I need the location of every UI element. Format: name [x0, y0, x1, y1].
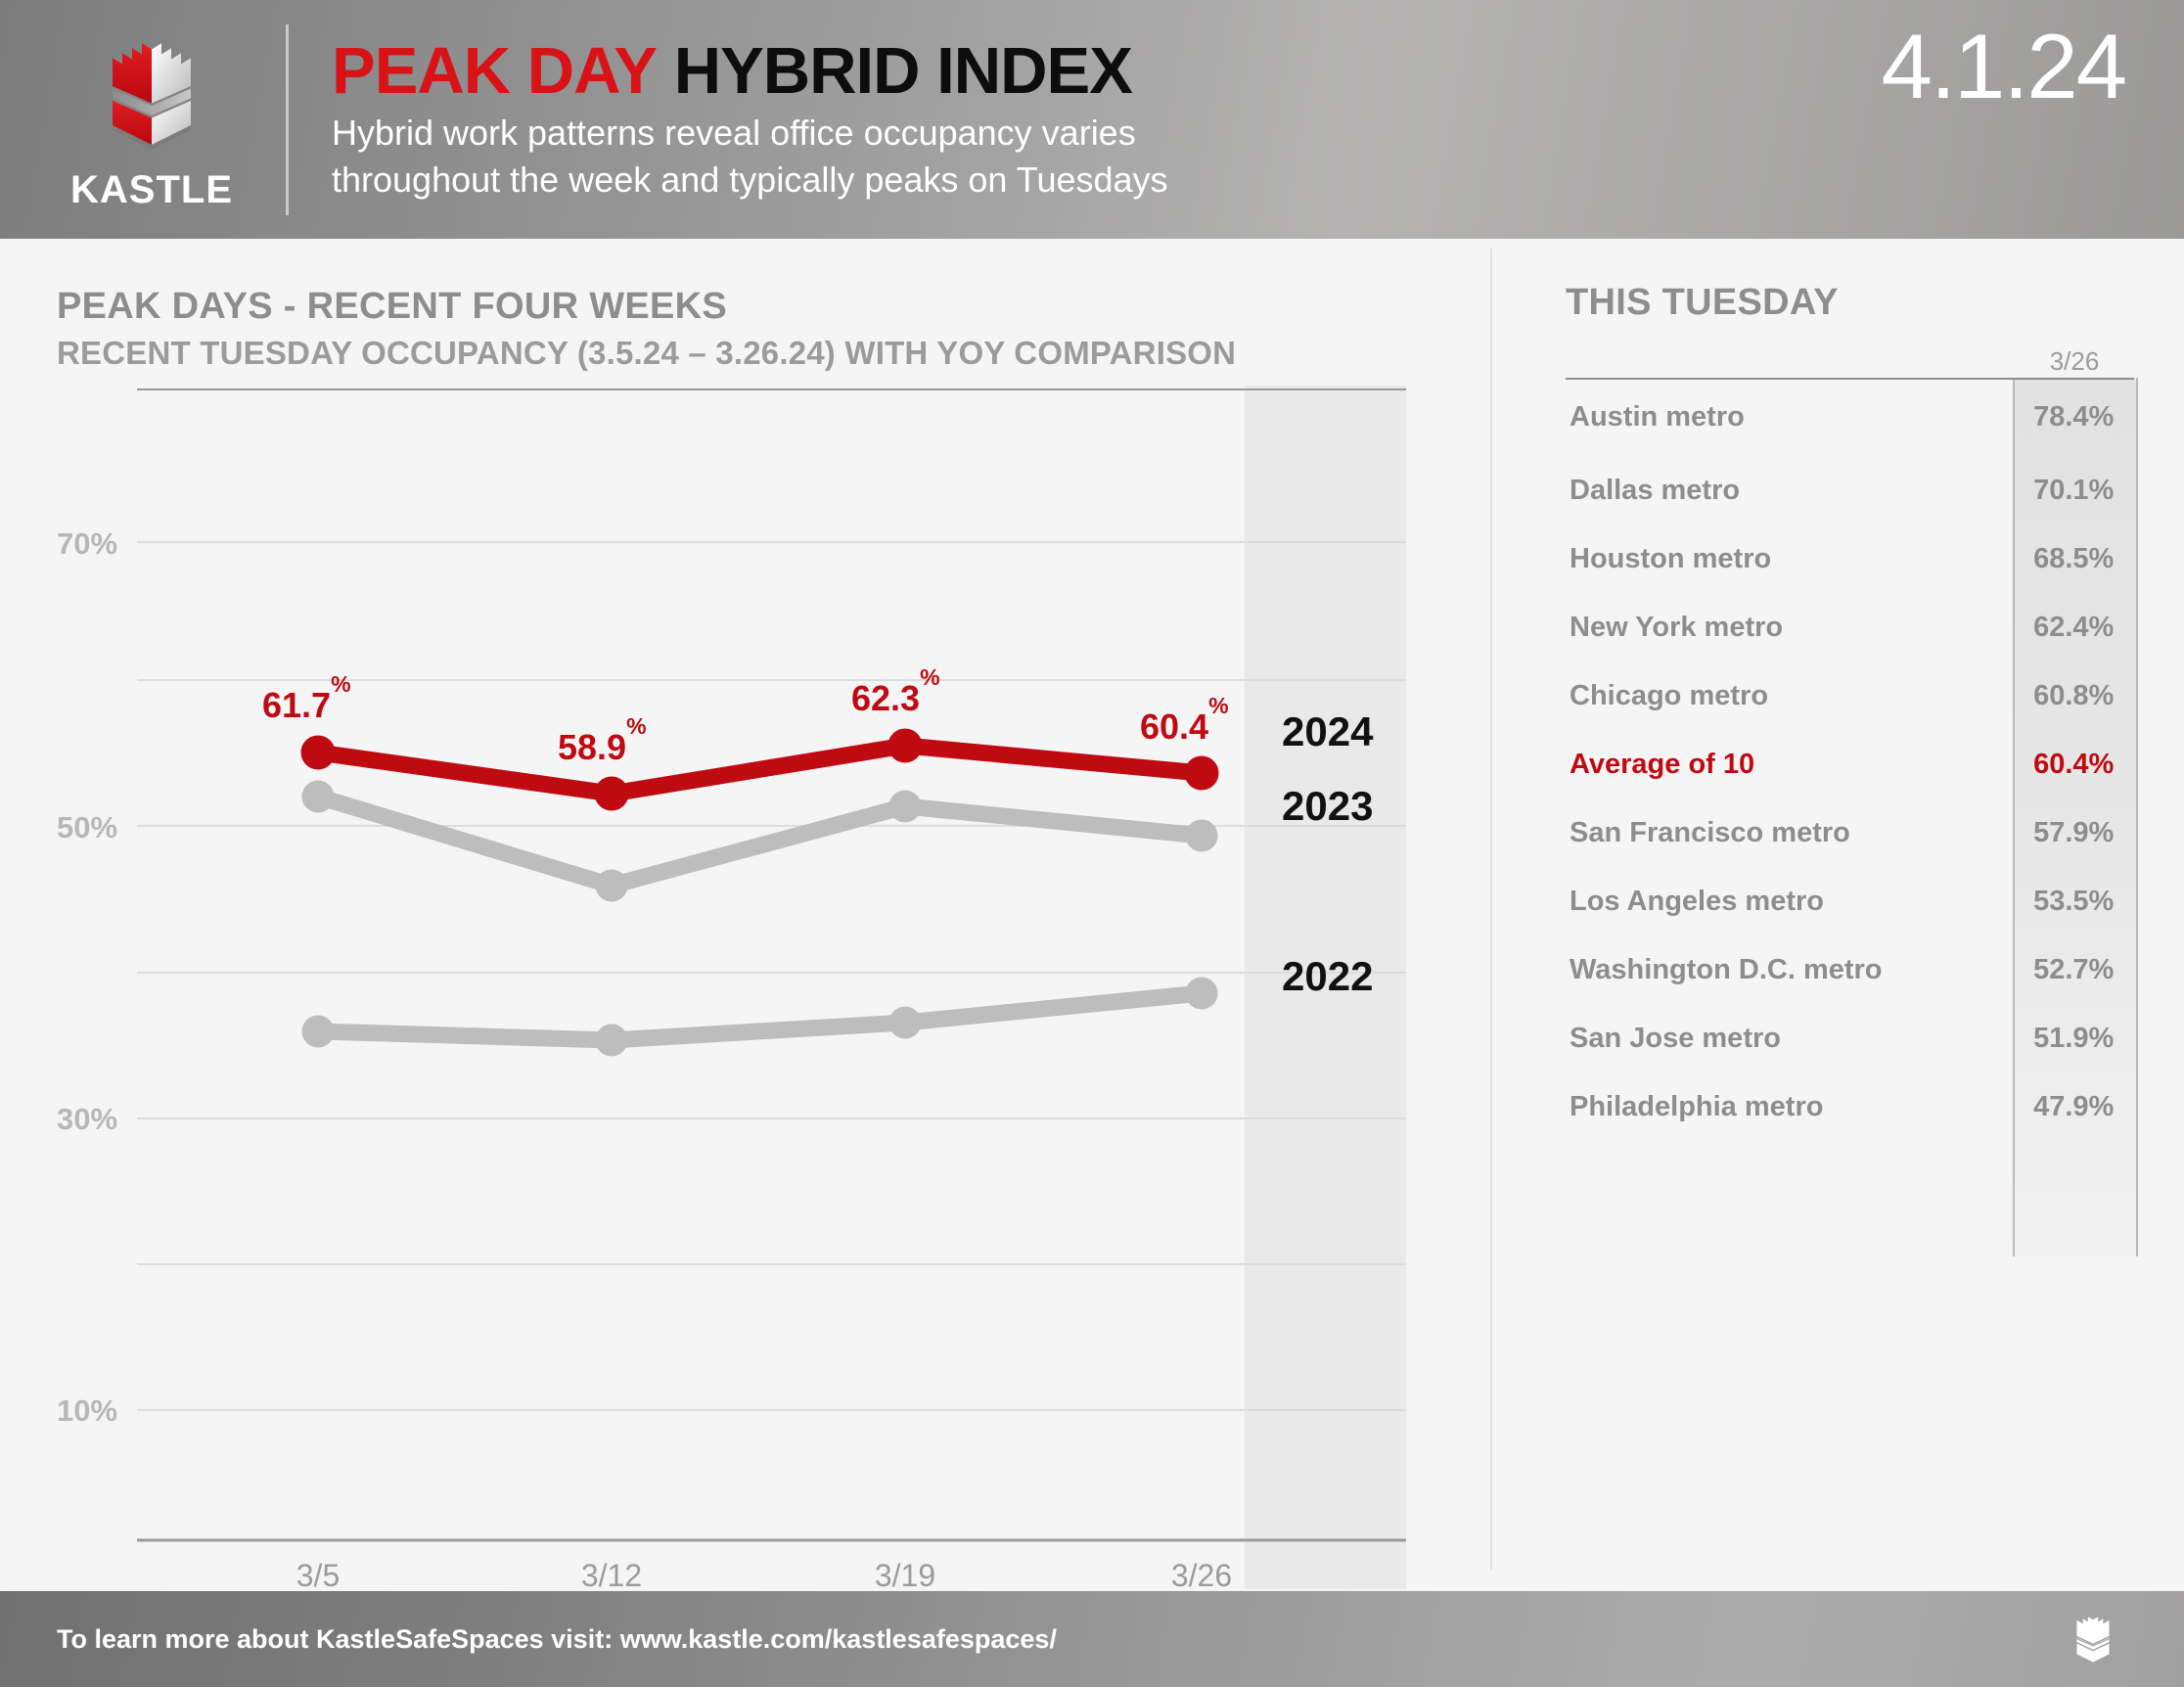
table-row[interactable]: Chicago metro 60.8%: [1566, 661, 2134, 730]
table-row[interactable]: San Francisco metro 57.9%: [1566, 798, 2134, 867]
metro-value: 60.4%: [2013, 749, 2134, 781]
footer-bar: To learn more about KastleSafeSpaces vis…: [0, 1591, 2184, 1687]
page-title-red: PEAK DAY: [332, 34, 657, 108]
this-tuesday-panel: THIS TUESDAY 3/26 Austin metro 78.4% Dal…: [1493, 239, 2184, 1583]
metro-value: 70.1%: [2013, 475, 2134, 507]
x-tick-0: 3/5: [240, 1558, 396, 1594]
table-row[interactable]: Philadelphia metro 47.9%: [1566, 1072, 2134, 1141]
metro-name: San Jose metro: [1566, 1023, 2013, 1055]
page-title: PEAK DAY HYBRID INDEX: [332, 37, 1168, 106]
table-row[interactable]: Austin metro 78.4%: [1566, 378, 2134, 456]
metro-value: 60.8%: [2013, 680, 2134, 712]
metro-value: 47.9%: [2013, 1091, 2134, 1123]
header-divider: [286, 24, 289, 215]
kastle-logo: KASTLE: [29, 27, 274, 212]
chart-plot-area: 70% 50% 30% 10% 3/5 3/12 3/19 3/26 61.7%…: [0, 386, 1487, 1560]
x-tick-1: 3/12: [533, 1558, 690, 1594]
metro-name: Philadelphia metro: [1566, 1091, 2013, 1123]
x-tick-3: 3/26: [1123, 1558, 1280, 1594]
metro-name: Chicago metro: [1566, 680, 2013, 712]
header-subtitle-line1: Hybrid work patterns reveal office occup…: [332, 113, 1168, 154]
metro-name: Washington D.C. metro: [1566, 954, 2013, 986]
this-tuesday-title: THIS TUESDAY: [1566, 282, 1839, 324]
kastle-castle-icon: [2063, 1615, 2123, 1667]
panel-divider: [1490, 249, 1492, 1570]
footer-text: To learn more about KastleSafeSpaces vis…: [57, 1624, 1057, 1655]
kastle-wordmark: KASTLE: [70, 168, 233, 212]
metro-value: 68.5%: [2013, 543, 2134, 575]
metro-name: San Francisco metro: [1566, 817, 2013, 849]
data-label-2024-1: 58.9%: [558, 726, 647, 768]
chart-subtitle: RECENT TUESDAY OCCUPANCY (3.5.24 – 3.26.…: [57, 335, 1236, 372]
data-label-2024-0: 61.7%: [262, 684, 351, 726]
series-label-2024: 2024: [1282, 708, 1373, 755]
metro-occupancy-table: Austin metro 78.4% Dallas metro 70.1% Ho…: [1566, 378, 2134, 1141]
y-tick-10: 10%: [57, 1393, 117, 1429]
metro-name: New York metro: [1566, 612, 2013, 644]
content-area: PEAK DAYS - RECENT FOUR WEEKS RECENT TUE…: [0, 239, 2184, 1583]
y-tick-70: 70%: [57, 526, 117, 562]
series-2023: [302, 781, 1217, 901]
table-row[interactable]: Los Angeles metro 53.5%: [1566, 867, 2134, 935]
table-row[interactable]: Dallas metro 70.1%: [1566, 456, 2134, 524]
metro-value: 52.7%: [2013, 954, 2134, 986]
metro-name: Houston metro: [1566, 543, 2013, 575]
metro-name: Los Angeles metro: [1566, 886, 2013, 918]
table-row-average[interactable]: Average of 10 60.4%: [1566, 730, 2134, 798]
table-row[interactable]: New York metro 62.4%: [1566, 593, 2134, 661]
metro-value: 78.4%: [2013, 401, 2134, 433]
table-row[interactable]: San Jose metro 51.9%: [1566, 1004, 2134, 1072]
peak-day-hybrid-index-infographic: KASTLE PEAK DAY HYBRID INDEX Hybrid work…: [0, 0, 2184, 1687]
page-title-black: HYBRID INDEX: [674, 34, 1132, 108]
kastle-castle-icon: [78, 27, 225, 164]
chart-title: PEAK DAYS - RECENT FOUR WEEKS: [57, 286, 727, 328]
y-tick-30: 30%: [57, 1102, 117, 1137]
chart-svg: [0, 386, 1487, 1589]
header-subtitle-line2: throughout the week and typically peaks …: [332, 160, 1168, 201]
chart-panel: PEAK DAYS - RECENT FOUR WEEKS RECENT TUE…: [0, 239, 1487, 1583]
series-2024: [301, 729, 1218, 810]
metro-value: 51.9%: [2013, 1023, 2134, 1055]
metro-value: 53.5%: [2013, 886, 2134, 918]
report-date: 4.1.24: [1882, 14, 2125, 119]
metro-name: Average of 10: [1566, 749, 2013, 781]
series-label-2022: 2022: [1282, 953, 1373, 1000]
chart-gridlines: [137, 542, 1406, 1410]
table-row[interactable]: Washington D.C. metro 52.7%: [1566, 935, 2134, 1004]
table-row[interactable]: Houston metro 68.5%: [1566, 524, 2134, 593]
metro-value: 62.4%: [2013, 612, 2134, 644]
y-tick-50: 50%: [57, 810, 117, 845]
series-2022: [302, 978, 1217, 1056]
metro-value: 57.9%: [2013, 817, 2134, 849]
metro-name: Dallas metro: [1566, 475, 2013, 507]
header-bar: KASTLE PEAK DAY HYBRID INDEX Hybrid work…: [0, 0, 2184, 239]
table-date-header: 3/26: [2016, 346, 2133, 377]
data-label-2024-3: 60.4%: [1140, 706, 1229, 748]
x-tick-2: 3/19: [827, 1558, 983, 1594]
series-label-2023: 2023: [1282, 783, 1373, 830]
data-label-2024-2: 62.3%: [851, 677, 940, 719]
metro-name: Austin metro: [1566, 401, 2013, 433]
